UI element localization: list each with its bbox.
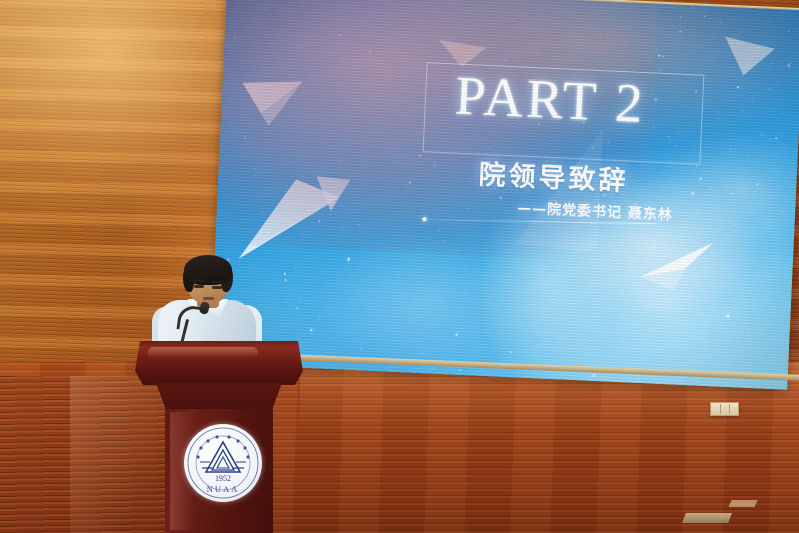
- floor-plate-reflection: [728, 500, 757, 507]
- screen-vignette: [210, 0, 799, 390]
- nuaa-university-seal: 1952 NUAA: [184, 424, 262, 502]
- podium-neck: [156, 383, 282, 410]
- speaker-eye-right: [212, 286, 222, 289]
- projection-screen: PART 2 院领导致辞 ——院党委书记 聂东林: [210, 0, 799, 390]
- speaker-hair: [184, 255, 232, 285]
- seal-latin: NUAA: [207, 484, 240, 494]
- light-switch-panel[interactable]: [710, 402, 739, 416]
- speaker-mouth: [203, 297, 214, 300]
- seal-chinese-ring: [196, 435, 249, 458]
- seal-year: 1952: [215, 474, 231, 483]
- podium-desktop-sheen: [148, 347, 258, 358]
- seal-artwork: 1952 NUAA: [184, 424, 262, 502]
- floor-plate: [682, 513, 732, 523]
- photo-scene: PART 2 院领导致辞 ——院党委书记 聂东林: [0, 0, 799, 533]
- speaker-eye-left: [194, 285, 204, 288]
